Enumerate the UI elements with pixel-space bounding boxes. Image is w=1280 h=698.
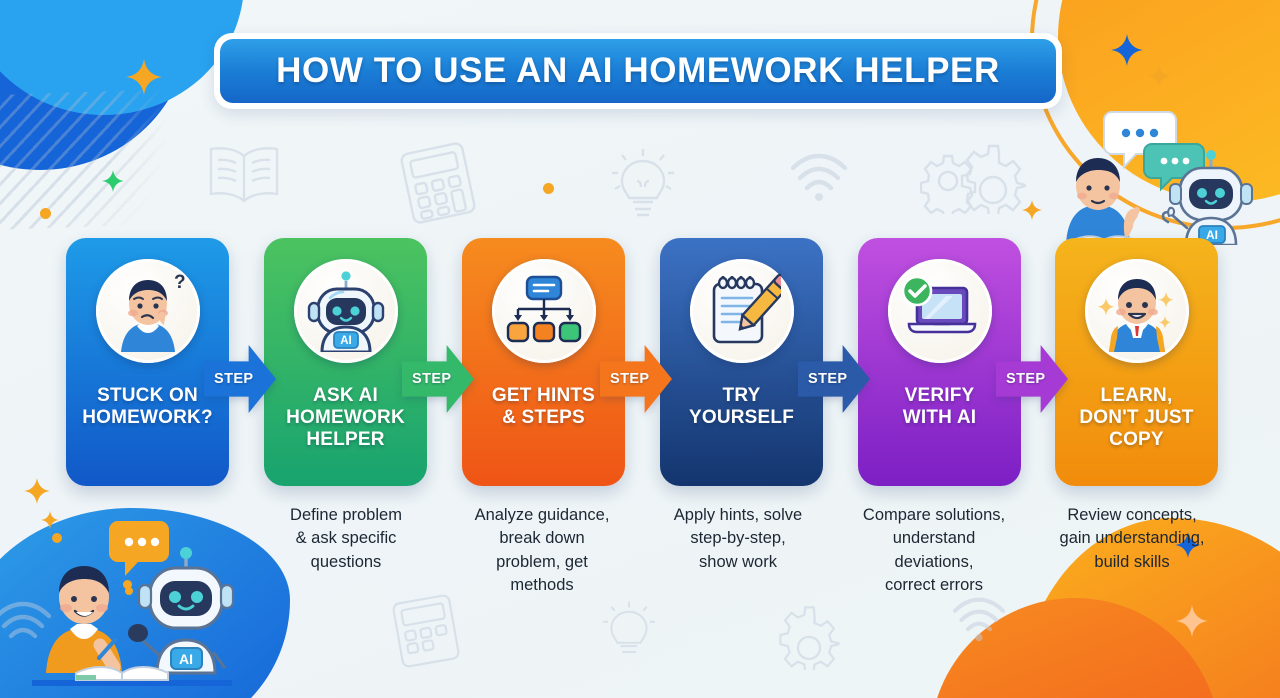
step-arrow-2: STEP: [402, 345, 474, 413]
step-card-label: VERIFY WITH AI: [898, 385, 982, 429]
happy-student-icon: [1085, 259, 1189, 363]
wifi-icon: [950, 596, 1008, 644]
sparkle-icon: [1111, 34, 1143, 66]
step-card-label: STUCK ON HOMEWORK?: [77, 385, 218, 429]
calculator-icon: [389, 591, 462, 671]
sparkle-icon: [1176, 605, 1208, 637]
lightbulb-icon: [598, 598, 660, 664]
steps-row: ? STUCK ON HOMEWORK? STEP: [66, 238, 1218, 490]
wifi-icon: [788, 152, 850, 204]
step-arrow-1: STEP: [204, 345, 276, 413]
laptop-check-icon: [888, 259, 992, 363]
book-icon: [205, 140, 283, 206]
step-arrow-label: STEP: [808, 371, 847, 387]
step-card-label: LEARN, DON'T JUST COPY: [1074, 385, 1198, 451]
sparkle-icon: [102, 170, 124, 192]
step-caption-3: Analyze guidance, break down problem, ge…: [449, 504, 635, 598]
step-card-6[interactable]: LEARN, DON'T JUST COPY: [1055, 238, 1218, 486]
decor-dot: [543, 183, 554, 194]
decor-diagonal-stripes: [0, 88, 197, 231]
svg-text:AI: AI: [179, 651, 193, 667]
ai-robot-icon: AI: [294, 259, 398, 363]
step-arrow-label: STEP: [412, 371, 451, 387]
step-arrow-4: STEP: [798, 345, 870, 413]
title-banner-inner: HOW TO USE AN AI HOMEWORK HELPER: [220, 39, 1056, 103]
sparkle-icon: [126, 59, 162, 95]
calculator-icon: [397, 139, 479, 227]
step-card-label: TRY YOURSELF: [684, 385, 799, 429]
confused-student-icon: ?: [96, 259, 200, 363]
svg-text:AI: AI: [340, 335, 352, 347]
sparkle-icon: [1022, 200, 1042, 220]
decor-dot: [40, 208, 51, 219]
step-arrow-5: STEP: [996, 345, 1068, 413]
step-arrow-label: STEP: [610, 371, 649, 387]
notepad-pencil-icon: [690, 259, 794, 363]
step-arrow-3: STEP: [600, 345, 672, 413]
step-caption-2: Define problem & ask specific questions: [253, 504, 439, 574]
step-arrow-label: STEP: [214, 371, 253, 387]
title-banner: HOW TO USE AN AI HOMEWORK HELPER: [214, 33, 1062, 109]
student-robot-chat-bottom-left: AI: [14, 505, 249, 695]
step-card-label: GET HINTS & STEPS: [487, 385, 600, 429]
step-arrow-label: STEP: [1006, 371, 1045, 387]
sparkle-icon: [24, 478, 50, 504]
step-card-label: ASK AI HOMEWORK HELPER: [281, 385, 410, 451]
step-caption-6: Review concepts, gain understanding, bui…: [1039, 504, 1225, 574]
gears-icon: [772, 600, 846, 670]
svg-text:?: ?: [174, 272, 186, 293]
flowchart-hints-icon: [492, 259, 596, 363]
student-robot-chat-top-right: AI: [1056, 100, 1256, 245]
sparkle-icon: [1148, 65, 1170, 87]
lightbulb-icon: [606, 145, 680, 223]
step-caption-4: Apply hints, solve step-by-step, show wo…: [645, 504, 831, 574]
step-caption-5: Compare solutions, understand deviations…: [841, 504, 1027, 598]
gears-icon: [920, 140, 1026, 214]
decor-blob-top-left-light: [0, 0, 244, 115]
page-title: HOW TO USE AN AI HOMEWORK HELPER: [276, 51, 1000, 91]
infographic-canvas: HOW TO USE AN AI HOMEWORK HELPER: [0, 0, 1280, 698]
